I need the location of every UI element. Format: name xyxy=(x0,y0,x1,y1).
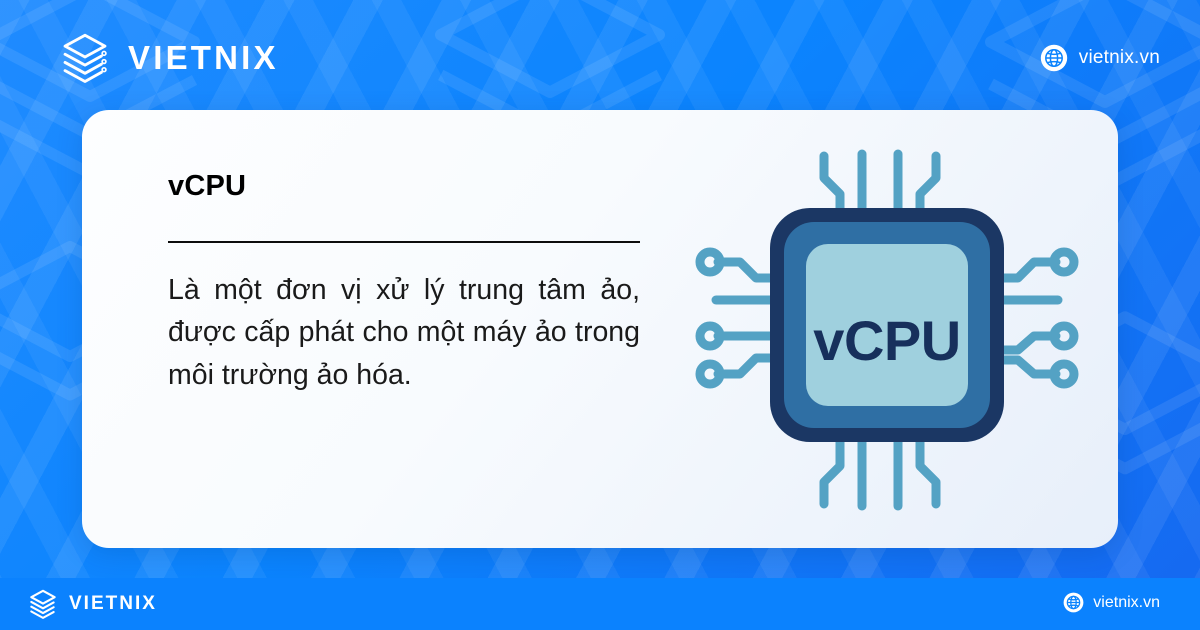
card-description: Là một đơn vị xử lý trung tâm ảo, được c… xyxy=(168,269,640,396)
footer-brand[interactable]: VIETNIX xyxy=(26,586,157,620)
header-site-link[interactable]: vietnix.vn xyxy=(1040,44,1160,72)
footer-site-link[interactable]: vietnix.vn xyxy=(1063,592,1160,613)
title-divider xyxy=(168,241,640,243)
content-card: vCPU Là một đơn vị xử lý trung tâm ảo, đ… xyxy=(82,110,1118,548)
header-brand[interactable]: VIETNIX xyxy=(56,28,279,86)
globe-icon xyxy=(1063,592,1084,613)
cpu-chip-illustration: vCPU xyxy=(682,120,1092,540)
card-text-block: vCPU Là một đơn vị xử lý trung tâm ảo, đ… xyxy=(168,172,640,396)
page-title: vCPU xyxy=(168,172,640,201)
site-url: vietnix.vn xyxy=(1079,47,1160,69)
footer-site-url: vietnix.vn xyxy=(1093,595,1160,611)
poster-canvas: VIETNIX vietnix.vn vCPU xyxy=(0,0,1200,630)
globe-icon xyxy=(1040,44,1068,72)
brand-name: VIETNIX xyxy=(128,41,279,74)
chip-inner-die xyxy=(806,244,968,406)
page-header: VIETNIX vietnix.vn xyxy=(0,0,1200,110)
page-footer: VIETNIX vietnix.vn xyxy=(0,578,1200,630)
stacked-layers-logo-icon xyxy=(26,586,60,620)
stacked-layers-logo-icon xyxy=(56,28,114,86)
footer-brand-name: VIETNIX xyxy=(69,594,157,613)
